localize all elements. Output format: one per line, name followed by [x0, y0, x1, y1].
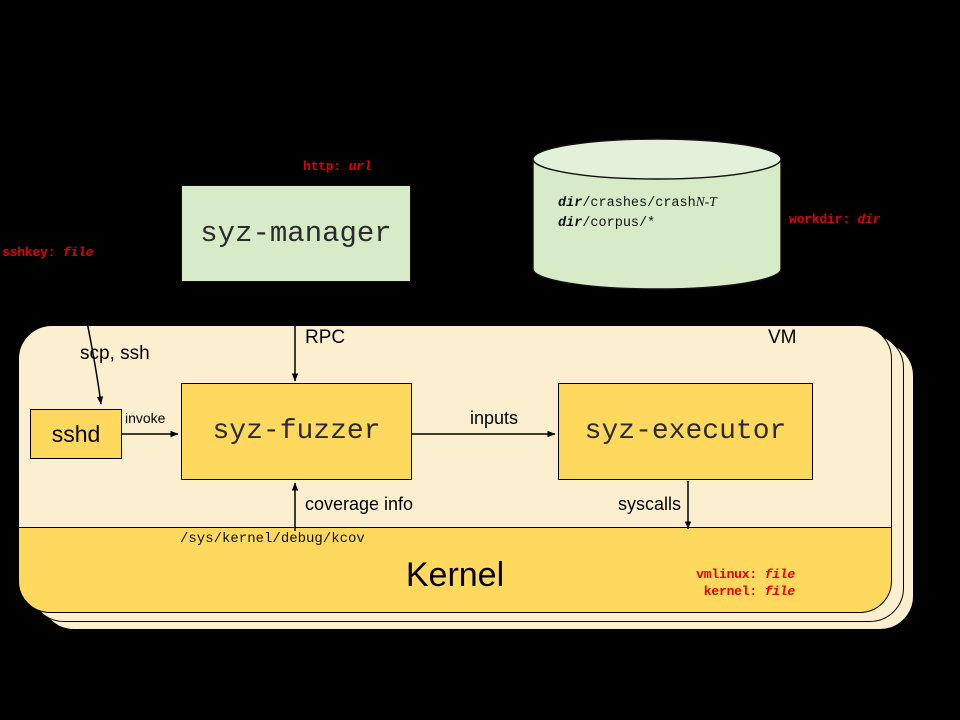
annotation-workdir-value: dir: [857, 212, 880, 227]
workdir-line2-prefix: dir: [558, 216, 582, 231]
edge-label-inputs: inputs: [470, 409, 518, 427]
sshd-box[interactable]: sshd: [30, 409, 122, 459]
workdir-path-line-1: dir/crashes/crashN-T: [558, 192, 717, 214]
annotation-sshkey-key: sshkey:: [2, 245, 55, 260]
edge-label-syscalls: syscalls: [618, 495, 681, 513]
workdir-line1-mid: /crashes/crash: [582, 196, 695, 211]
syz-executor-label: syz-executor: [585, 416, 787, 447]
workdir-paths: dir/crashes/crashN-T dir/corpus/*: [558, 192, 717, 233]
diagram-canvas: Kernel vmlinux: file kernel: file VM syz…: [0, 0, 960, 720]
edge-label-scp-ssh: scp, ssh: [80, 344, 150, 363]
edge-label-rpc: RPC: [305, 328, 345, 347]
annotation-kernel-image: kernel: file: [530, 584, 795, 599]
edge-label-coverage-info: coverage info: [305, 495, 413, 513]
annotation-http: http: url: [303, 159, 371, 174]
syz-manager-label: syz-manager: [200, 217, 391, 250]
annotation-sshkey: sshkey: file: [2, 245, 93, 260]
workdir-line1-var: N-T: [696, 194, 717, 209]
annotation-vmlinux-key: vmlinux:: [696, 567, 757, 582]
annotation-kernel-value: file: [765, 584, 795, 599]
annotation-vmlinux: vmlinux: file: [530, 567, 795, 582]
vm-label: VM: [768, 328, 797, 347]
syz-fuzzer-label: syz-fuzzer: [212, 416, 380, 447]
edge-label-invoke: invoke: [125, 411, 165, 425]
workdir-line2-mid: /corpus/*: [582, 216, 655, 231]
workdir-path-line-2: dir/corpus/*: [558, 214, 717, 234]
cylinder-top: [533, 139, 781, 179]
workdir-line1-prefix: dir: [558, 196, 582, 211]
annotation-http-key: http:: [303, 159, 341, 174]
annotation-vmlinux-value: file: [765, 567, 795, 582]
annotation-workdir: workdir: dir: [789, 212, 880, 227]
sshd-label: sshd: [52, 421, 101, 448]
annotation-workdir-key: workdir:: [789, 212, 850, 227]
edge-label-kcov-path: /sys/kernel/debug/kcov: [180, 531, 365, 547]
syz-fuzzer-box[interactable]: syz-fuzzer: [181, 383, 412, 480]
annotation-http-value: url: [349, 159, 372, 174]
syz-manager-box[interactable]: syz-manager: [181, 185, 411, 282]
annotation-sshkey-value: file: [63, 245, 93, 260]
annotation-kernel-key: kernel:: [704, 584, 757, 599]
syz-executor-box[interactable]: syz-executor: [558, 383, 813, 480]
